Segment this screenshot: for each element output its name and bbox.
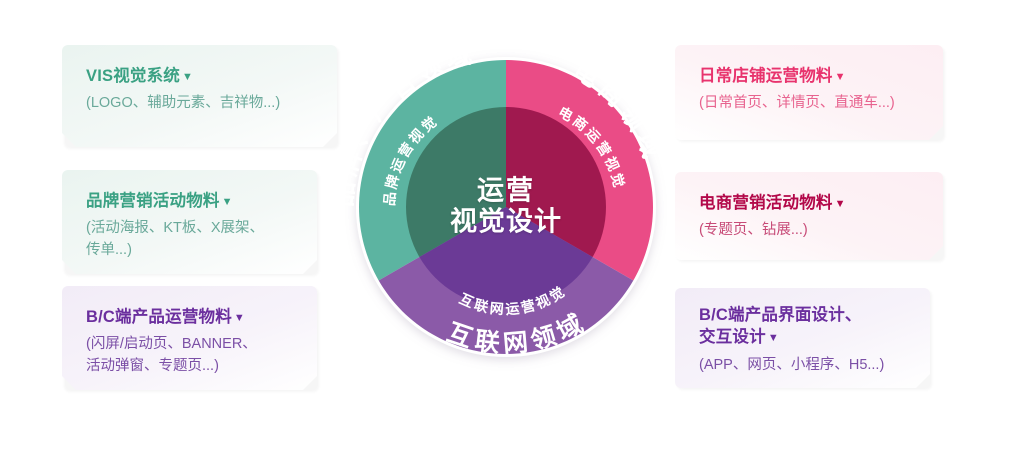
card-title: 电商营销活动物料▼ <box>699 192 921 214</box>
card-vis-system[interactable]: VIS视觉系统▼ (LOGO、辅助元素、吉祥物...) <box>62 45 337 147</box>
card-title: 日常店铺运营物料▼ <box>699 65 921 87</box>
card-bc-product-ui-interaction-design[interactable]: B/C端产品界面设计、 交互设计▼ (APP、网页、小程序、H5...) <box>675 288 930 388</box>
operation-visual-design-wheel: 品牌、广告领域 电商领域 互联网领域 品牌运营视觉 电商运营视觉 互联网运营视觉… <box>327 28 685 386</box>
card-subtitle: (LOGO、辅助元素、吉祥物...) <box>86 93 315 115</box>
card-title: B/C端产品界面设计、 交互设计▼ <box>699 304 908 349</box>
chevron-down-icon[interactable]: ▼ <box>182 70 193 85</box>
wheel-inner-ring <box>406 107 606 307</box>
card-subtitle: (日常首页、详情页、直通车...) <box>699 93 921 115</box>
card-subtitle: (专题页、钻展...) <box>699 220 921 242</box>
card-daily-shop-operation-materials[interactable]: 日常店铺运营物料▼ (日常首页、详情页、直通车...) <box>675 45 943 140</box>
card-ecommerce-marketing-materials[interactable]: 电商营销活动物料▼ (专题页、钻展...) <box>675 172 943 260</box>
chevron-down-icon[interactable]: ▼ <box>835 197 846 212</box>
chevron-down-icon[interactable]: ▼ <box>835 70 846 85</box>
card-subtitle: (APP、网页、小程序、H5...) <box>699 355 908 377</box>
card-title: 品牌营销活动物料▼ <box>86 190 295 212</box>
chevron-down-icon[interactable]: ▼ <box>234 311 245 326</box>
chevron-down-icon[interactable]: ▼ <box>768 331 779 346</box>
card-title: B/C端产品运营物料▼ <box>86 306 295 328</box>
card-brand-marketing-materials[interactable]: 品牌营销活动物料▼ (活动海报、KT板、X展架、 传单...) <box>62 170 317 274</box>
card-subtitle: (闪屏/启动页、BANNER、 活动弹窗、专题页...) <box>86 334 295 378</box>
chevron-down-icon[interactable]: ▼ <box>222 195 233 210</box>
card-bc-product-operation-materials[interactable]: B/C端产品运营物料▼ (闪屏/启动页、BANNER、 活动弹窗、专题页...) <box>62 286 317 390</box>
card-title: VIS视觉系统▼ <box>86 65 315 87</box>
card-subtitle: (活动海报、KT板、X展架、 传单...) <box>86 218 295 262</box>
diagram-canvas: VIS视觉系统▼ (LOGO、辅助元素、吉祥物...) 品牌营销活动物料▼ (活… <box>0 0 1010 450</box>
